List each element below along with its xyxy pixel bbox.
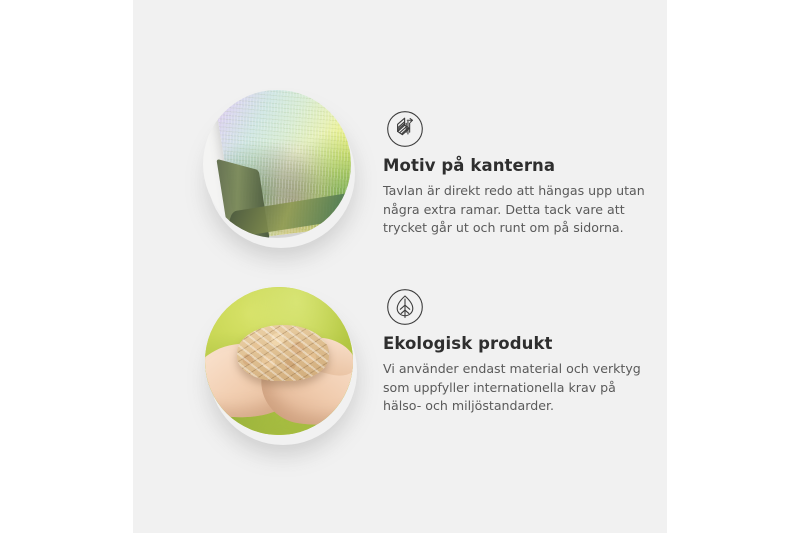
feature-1-photo-wrap [203,90,351,238]
content-panel [133,0,667,533]
feature-2-photo-wrap [205,287,353,435]
wood-chips [237,325,329,381]
canvas-photo-background [203,90,351,238]
canvas-print-corner-photo [203,90,351,238]
hands-holding-wood-chips-photo [205,287,353,435]
product-feature-banner: Motiv på kanterna Tavlan är direkt redo … [0,0,800,533]
canvas-wrapped-edge-icon [386,110,424,148]
leaf-icon [386,288,424,326]
feature-1-description: Tavlan är direkt redo att hängas upp uta… [383,182,653,238]
feature-2-title: Ekologisk produkt [383,334,553,353]
feature-2-description: Vi använder endast material och verktyg … [383,360,653,416]
feature-1-title: Motiv på kanterna [383,156,555,175]
